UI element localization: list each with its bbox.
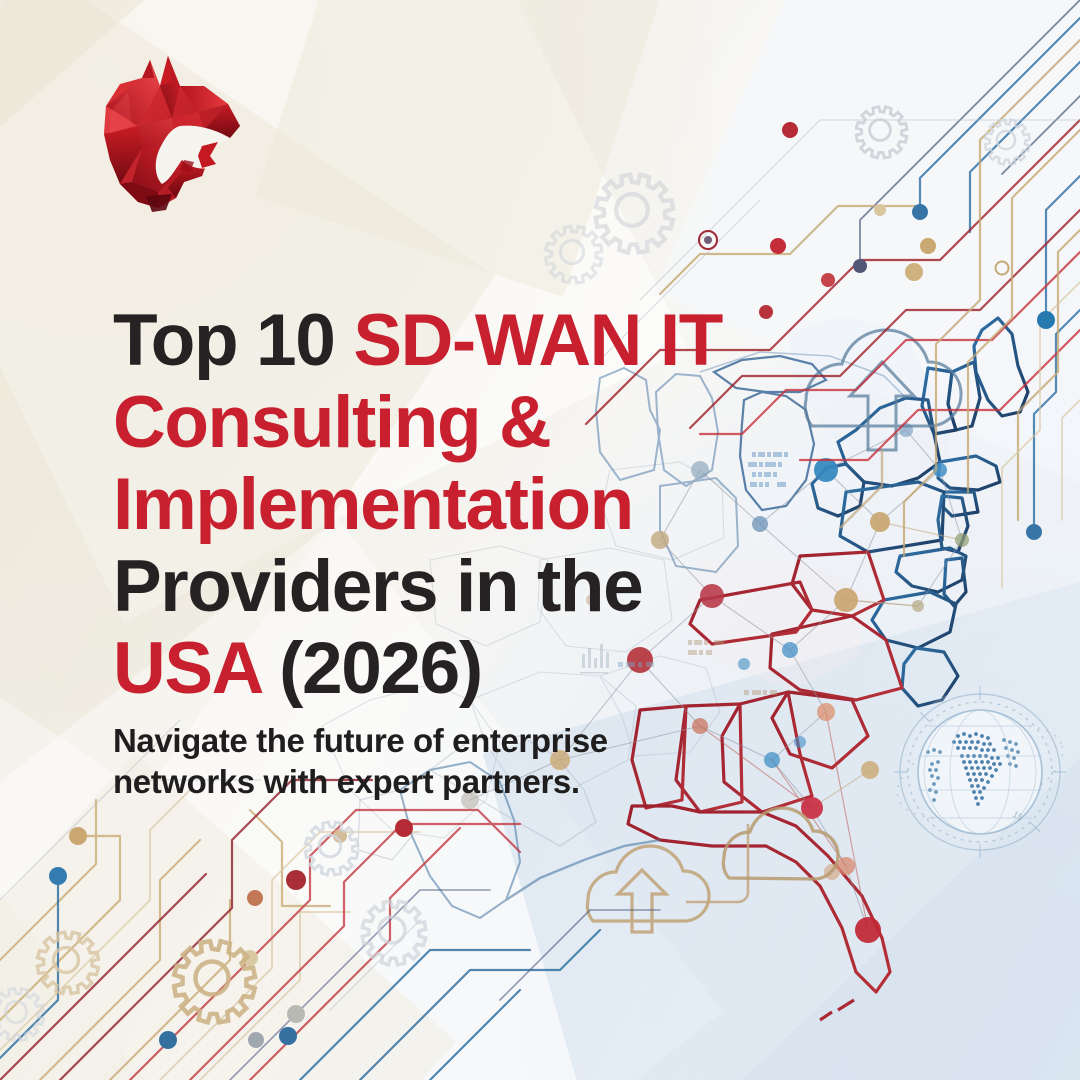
headline-line-1: Top 10 SD-WAN IT bbox=[113, 300, 833, 382]
headline-block: Top 10 SD-WAN IT Consulting & Implementa… bbox=[113, 300, 833, 802]
headline-sdwan-it: SD-WAN IT bbox=[353, 300, 722, 381]
gear-icon bbox=[0, 988, 44, 1040]
page-subtitle: Navigate the future of enterprise networ… bbox=[113, 720, 733, 802]
headline-top10: Top 10 bbox=[113, 300, 353, 381]
subtitle-line-2: networks with expert partners. bbox=[113, 763, 580, 800]
gear-icon bbox=[37, 932, 98, 993]
headline-year: (2026) bbox=[279, 628, 482, 709]
subtitle-line-1: Navigate the future of enterprise bbox=[113, 722, 608, 759]
panther-head-logo[interactable] bbox=[80, 42, 250, 214]
gear-icon bbox=[305, 822, 358, 875]
page-title: Top 10 SD-WAN IT Consulting & Implementa… bbox=[113, 300, 833, 710]
headline-line-5: USA (2026) bbox=[113, 628, 833, 710]
headline-line-4: Providers in the bbox=[113, 546, 833, 628]
gear-icon bbox=[362, 901, 425, 965]
headline-line-2: Consulting & bbox=[113, 382, 833, 464]
gear-icon bbox=[174, 941, 255, 1022]
headline-line-3: Implementation bbox=[113, 464, 833, 546]
headline-usa: USA bbox=[113, 628, 279, 709]
poster-canvas: 15 bbox=[0, 0, 1080, 1080]
